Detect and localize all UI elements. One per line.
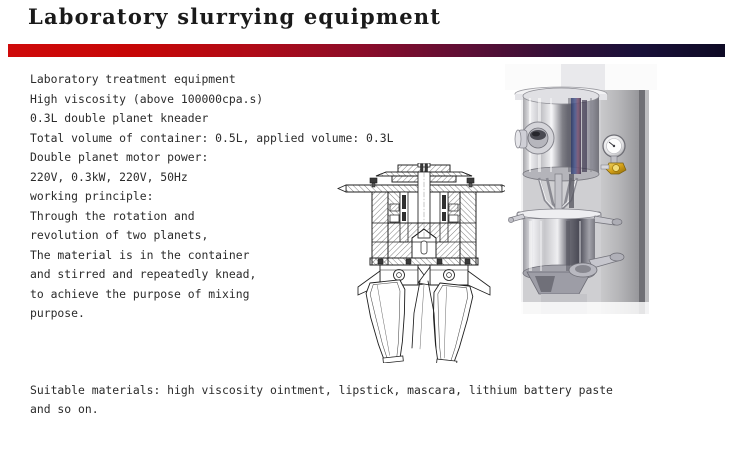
suitable-materials-note: Suitable materials: high viscosity ointm… — [30, 381, 700, 419]
description-line: 0.3L double planet kneader — [30, 109, 350, 129]
description-line: High viscosity (above 100000cpa.s) — [30, 90, 350, 110]
description-line: Total volume of container: 0.5L, applied… — [30, 129, 350, 149]
gradient-divider — [8, 44, 725, 57]
description-line: working principle: — [30, 187, 350, 207]
note-line: Suitable materials: high viscosity ointm… — [30, 381, 700, 400]
description-line: and stirred and repeatedly knead, — [30, 265, 350, 285]
description-line: 220V, 0.3kW, 220V, 50Hz — [30, 168, 350, 188]
double-planet-kneader-cross-section — [336, 163, 512, 363]
equipment-description: Laboratory treatment equipment High visc… — [30, 70, 350, 324]
description-line: revolution of two planets, — [30, 226, 350, 246]
page-title: Laboratory slurrying equipment — [28, 4, 441, 29]
description-line: purpose. — [30, 304, 350, 324]
description-line: Laboratory treatment equipment — [30, 70, 350, 90]
note-line: and so on. — [30, 400, 700, 419]
description-line: to achieve the purpose of mixing — [30, 285, 350, 305]
planetary-mixer-photograph — [505, 64, 657, 326]
description-line: Double planet motor power: — [30, 148, 350, 168]
description-line: The material is in the container — [30, 246, 350, 266]
description-line: Through the rotation and — [30, 207, 350, 227]
